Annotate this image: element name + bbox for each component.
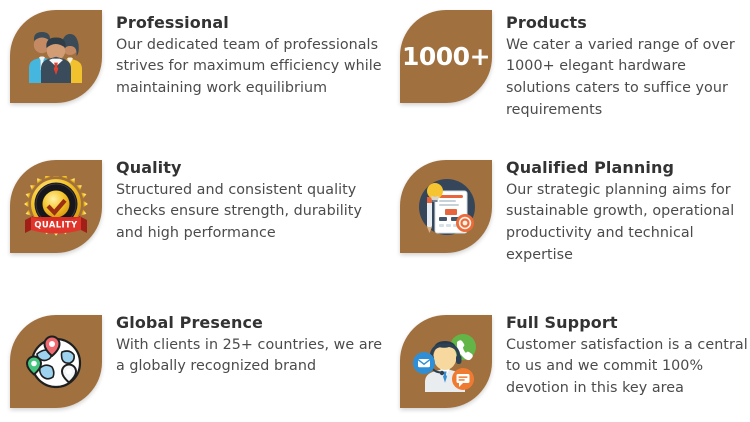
- feature-icon-tile: [10, 315, 102, 408]
- feature-text-block: Full Support Customer satisfaction is a …: [492, 310, 750, 400]
- feature-title: Qualified Planning: [506, 157, 750, 179]
- feature-card-products[interactable]: 1000+ Products We cater a varied range o…: [390, 0, 750, 145]
- feature-icon-tile: [10, 10, 102, 103]
- feature-icon-tile: 1000+: [400, 10, 492, 103]
- feature-description: With clients in 25+ countries, we are a …: [116, 335, 384, 378]
- products-count-badge: 1000+: [400, 10, 492, 103]
- team-people-icon: [10, 10, 102, 103]
- feature-description: Structured and consistent quality checks…: [116, 180, 384, 245]
- feature-text-block: Quality Structured and consistent qualit…: [102, 155, 384, 245]
- feature-title: Global Presence: [116, 312, 384, 334]
- feature-text-block: Products We cater a varied range of over…: [492, 10, 750, 121]
- feature-description: We cater a varied range of over 1000+ el…: [506, 35, 750, 122]
- support-agent-icon: [400, 315, 492, 408]
- features-grid: Professional Our dedicated team of profe…: [0, 0, 750, 422]
- feature-text-block: Global Presence With clients in 25+ coun…: [102, 310, 384, 378]
- feature-card-full-support[interactable]: Full Support Customer satisfaction is a …: [390, 300, 750, 422]
- feature-icon-tile: [400, 315, 492, 408]
- svg-text:QUALITY: QUALITY: [34, 219, 78, 229]
- feature-icon-tile: QUALITY: [10, 160, 102, 253]
- feature-icon-tile: [400, 160, 492, 253]
- quality-seal-icon: QUALITY: [10, 160, 102, 253]
- feature-description: Customer satisfaction is a central to us…: [506, 335, 750, 400]
- globe-pins-icon: [10, 315, 102, 408]
- feature-description: Our strategic planning aims for sustaina…: [506, 180, 750, 267]
- feature-title: Full Support: [506, 312, 750, 334]
- feature-title: Products: [506, 12, 750, 34]
- planning-clipboard-icon: [400, 160, 492, 253]
- feature-text-block: Professional Our dedicated team of profe…: [102, 10, 384, 100]
- feature-title: Quality: [116, 157, 384, 179]
- feature-card-quality[interactable]: QUALITY Quality Structured and consisten…: [0, 145, 390, 300]
- feature-text-block: Qualified Planning Our strategic plannin…: [492, 155, 750, 266]
- feature-card-qualified-planning[interactable]: Qualified Planning Our strategic plannin…: [390, 145, 750, 300]
- feature-title: Professional: [116, 12, 384, 34]
- feature-card-professional[interactable]: Professional Our dedicated team of profe…: [0, 0, 390, 145]
- feature-card-global-presence[interactable]: Global Presence With clients in 25+ coun…: [0, 300, 390, 422]
- feature-description: Our dedicated team of professionals stri…: [116, 35, 384, 100]
- products-count-label: 1000+: [402, 44, 490, 69]
